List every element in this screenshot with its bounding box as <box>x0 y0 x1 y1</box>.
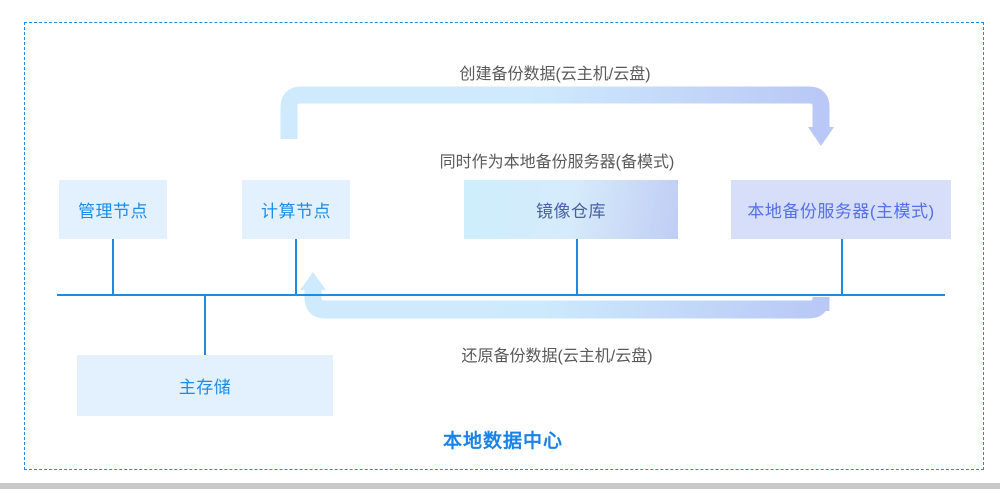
node-label: 镜像仓库 <box>536 197 606 222</box>
caption-create-backup: 创建备份数据(云主机/云盘) <box>459 60 650 84</box>
diagram-stage: 创建备份数据(云主机/云盘) 同时作为本地备份服务器(备模式) 还原备份数据(云… <box>0 0 1000 483</box>
connector-local-backup-server <box>841 239 843 295</box>
connector-primary-storage <box>204 295 206 356</box>
diagram-canvas: 创建备份数据(云主机/云盘) 同时作为本地备份服务器(备模式) 还原备份数据(云… <box>6 6 994 476</box>
connector-management-node <box>112 239 114 295</box>
connector-image-repository <box>576 239 578 295</box>
node-management-node[interactable]: 管理节点 <box>59 180 167 239</box>
main-bus-line <box>57 294 945 296</box>
node-label: 管理节点 <box>78 197 148 222</box>
node-local-backup-server[interactable]: 本地备份服务器(主模式) <box>731 180 951 239</box>
node-label: 计算节点 <box>261 197 331 222</box>
node-primary-storage[interactable]: 主存储 <box>77 355 333 416</box>
node-label: 主存储 <box>179 373 232 398</box>
connector-compute-node <box>295 239 297 295</box>
local-datacenter-title: 本地数据中心 <box>443 426 563 453</box>
node-image-repository[interactable]: 镜像仓库 <box>464 180 678 239</box>
caption-restore-backup: 还原备份数据(云主机/云盘) <box>461 342 652 366</box>
caption-backup-server-mode: 同时作为本地备份服务器(备模式) <box>440 148 675 172</box>
node-label: 本地备份服务器(主模式) <box>747 197 934 222</box>
node-compute-node[interactable]: 计算节点 <box>242 180 350 239</box>
